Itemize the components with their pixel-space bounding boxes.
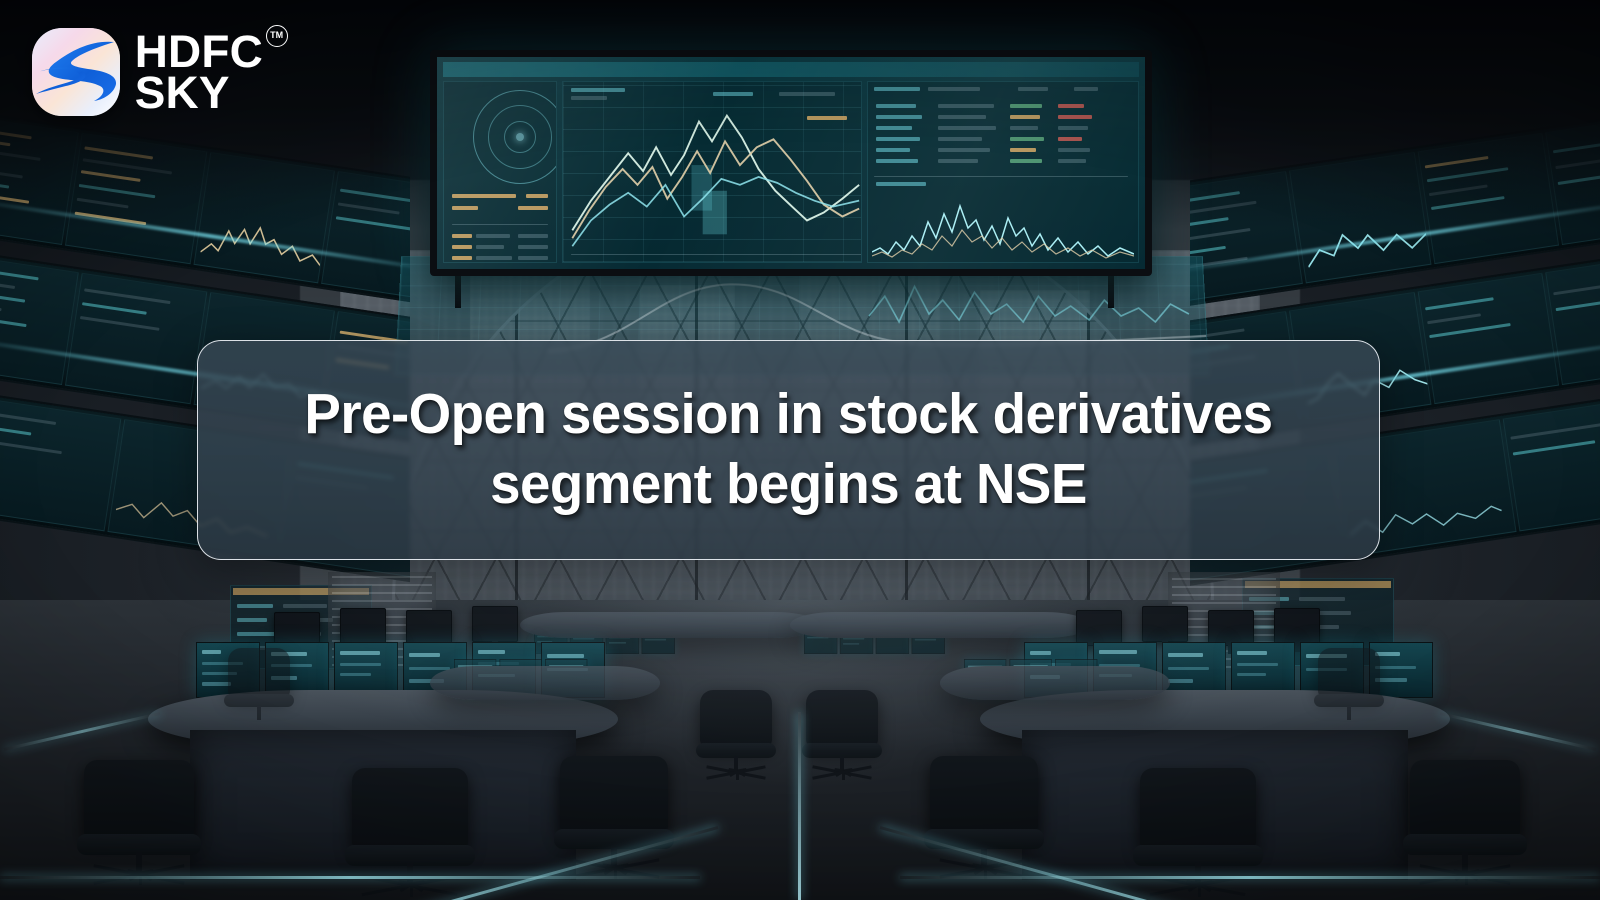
office-chair xyxy=(560,756,668,882)
office-chair xyxy=(930,756,1038,882)
auxiliary-monitor xyxy=(1274,608,1320,644)
radar-icon xyxy=(473,90,557,184)
auxiliary-monitor xyxy=(406,610,452,646)
brand-logo[interactable]: HDFC SKY TM xyxy=(32,28,262,116)
floor-glow-line-bottom-right xyxy=(900,876,1600,879)
auxiliary-monitor xyxy=(1076,610,1122,646)
auxiliary-monitor xyxy=(472,606,518,642)
wall-screen xyxy=(1417,273,1559,404)
brand-line-2: SKY xyxy=(135,72,263,113)
dashboard-line-chart xyxy=(562,81,862,263)
dashboard-data-table xyxy=(867,81,1139,263)
brand-line-1: HDFC xyxy=(135,31,263,72)
dashboard-header-bar xyxy=(443,62,1139,77)
office-chair xyxy=(700,690,772,782)
headline-panel: Pre-Open session in stock derivatives se… xyxy=(197,340,1380,560)
office-chair xyxy=(228,648,290,728)
office-chair xyxy=(806,690,878,782)
dashboard-radar-panel xyxy=(443,81,557,263)
floor-center-line xyxy=(798,712,801,900)
overhead-market-dashboard xyxy=(430,50,1152,276)
hdfc-sky-swoosh-logo-icon xyxy=(32,28,120,116)
floor-glow-line-bottom-left xyxy=(0,876,700,879)
auxiliary-monitor xyxy=(340,608,386,644)
wall-screen xyxy=(65,273,207,404)
auxiliary-monitor xyxy=(1208,610,1254,646)
news-banner-image: HDFC SKY TM Pre-Open session in stock de… xyxy=(0,0,1600,900)
brand-wordmark: HDFC SKY TM xyxy=(136,31,262,114)
office-chair xyxy=(84,760,194,888)
office-chair xyxy=(1318,648,1380,728)
office-chair xyxy=(352,768,468,900)
auxiliary-monitor xyxy=(1142,606,1188,642)
wall-screen xyxy=(1502,394,1600,532)
trademark-icon: TM xyxy=(266,25,288,47)
office-chair xyxy=(1410,760,1520,888)
office-chair xyxy=(1140,768,1256,900)
headline-text: Pre-Open session in stock derivatives se… xyxy=(222,380,1356,519)
wall-screen xyxy=(0,394,122,532)
